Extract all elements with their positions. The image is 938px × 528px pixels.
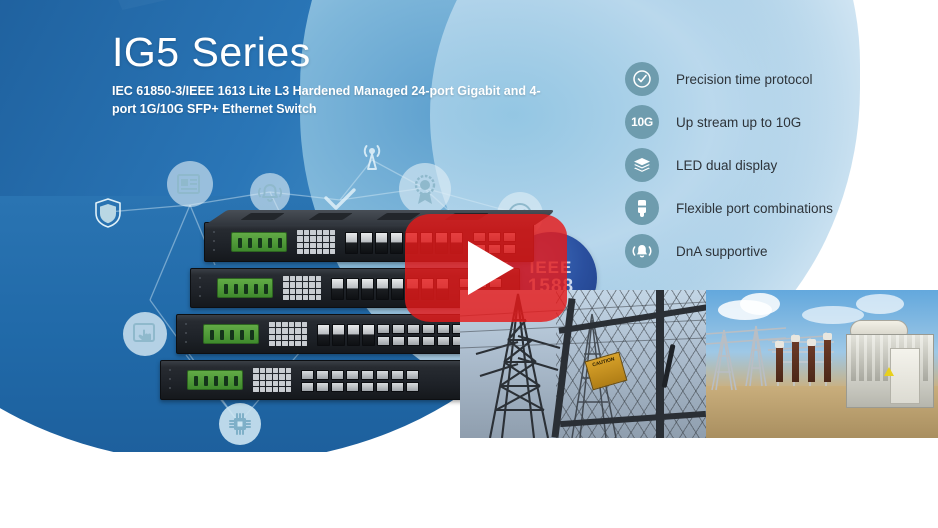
bell-icon [250,173,290,213]
terminal-block [231,232,287,252]
insulator-cap [823,333,832,340]
insulator [808,344,815,382]
feature-item: LED dual display [625,148,925,182]
feature-label: DnA supportive [676,244,768,259]
clock-check-icon [625,62,659,96]
port-module-icon [625,191,659,225]
control-panel [890,348,920,404]
feature-label: LED dual display [676,158,777,173]
feature-label: Flexible port combinations [676,201,833,216]
ten-gig-icon: 10G [625,105,659,139]
feature-item: Precision time protocol [625,62,925,96]
bell-signal-icon [625,234,659,268]
product-banner: IG5 Series IEC 61850-3/IEEE 1613 Lite L3… [0,0,938,528]
antenna-icon [357,142,387,177]
insulator [776,346,783,382]
insulator-cap [807,339,816,346]
feature-item: DnA supportive [625,234,925,268]
feature-list: Precision time protocol 10G Up stream up… [625,62,925,268]
feature-label: Up stream up to 10G [676,115,801,130]
feature-label: Precision time protocol [676,72,813,87]
title-block: IG5 Series IEC 61850-3/IEEE 1613 Lite L3… [112,32,562,118]
document-icon [167,161,213,207]
cpu-chip-icon [219,403,261,445]
insulator-cap [775,341,784,348]
switch-front-panel [161,361,489,399]
layers-icon [625,148,659,182]
page-title: IG5 Series [112,32,562,73]
sfp-port-bank [377,323,465,346]
shield-icon [92,196,124,235]
play-triangle-icon [468,241,514,295]
tablet-touch-icon [123,312,167,356]
award-icon [399,163,451,215]
led-array [297,230,335,254]
insulator [824,338,831,382]
sfp-port-bank [301,369,419,392]
warning-triangle-icon [884,367,894,376]
feature-item: 10G Up stream up to 10G [625,105,925,139]
led-array [253,368,291,392]
terminal-block [187,370,243,390]
terminal-block [203,324,259,344]
feature-item: Flexible port combinations [625,191,925,225]
play-button[interactable] [405,214,567,322]
insulator-cap [791,335,800,342]
terminal-block [217,278,273,298]
led-array [269,322,307,346]
switch-unit [160,360,490,400]
insulator [792,340,799,382]
page-subtitle: IEC 61850-3/IEEE 1613 Lite L3 Hardened M… [112,82,562,118]
led-array [283,276,321,300]
rj45-port-bank [317,323,375,346]
electrical-substation-photo [706,290,938,438]
